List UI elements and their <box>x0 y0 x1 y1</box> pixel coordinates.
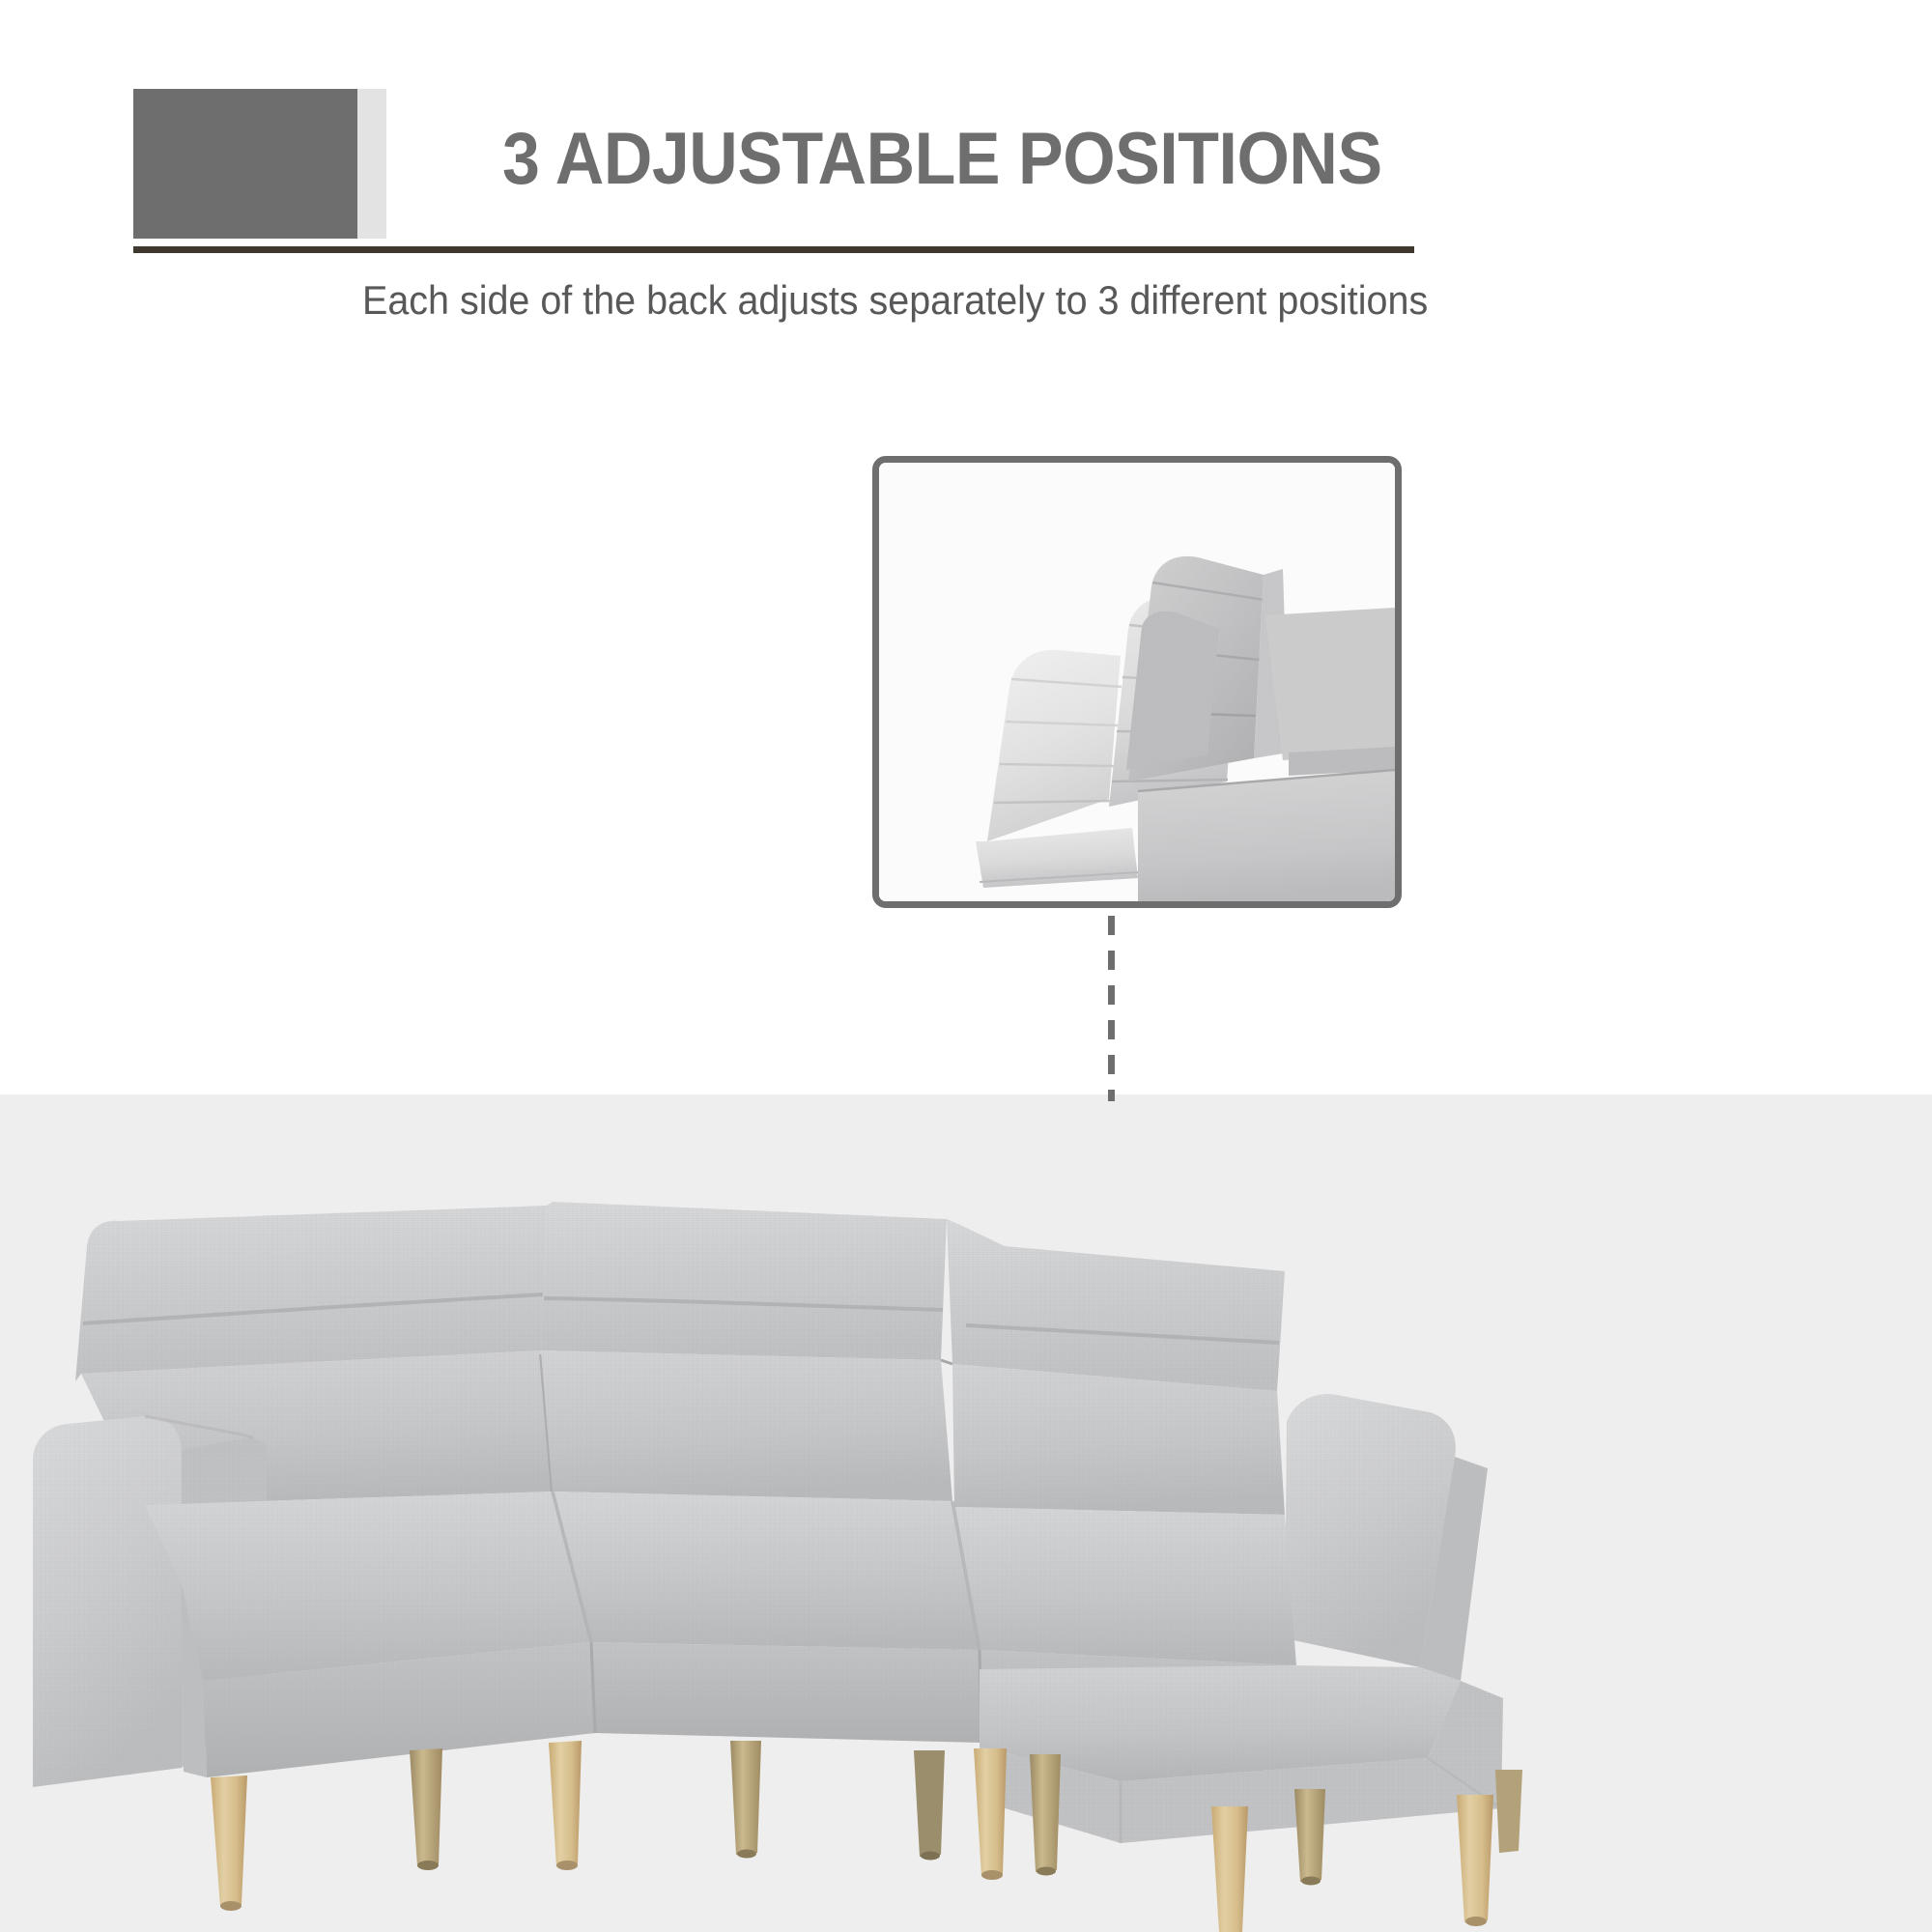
hero-product-image <box>0 1101 1932 1932</box>
page-title: 3 ADJUSTABLE POSITIONS <box>502 123 1391 196</box>
sofa-illustration <box>0 1101 1932 1932</box>
page-subtitle: Each side of the back adjusts separately… <box>362 275 1379 325</box>
split-back-detail-image <box>879 463 1395 901</box>
badge-block-light <box>357 89 386 239</box>
split-back-detail-box <box>872 456 1402 908</box>
marketing-banner: 3 ADJUSTABLE POSITIONS Each side of the … <box>0 0 1932 1932</box>
header-divider <box>133 246 1414 253</box>
header-badge <box>133 89 386 239</box>
badge-block-dark <box>133 89 357 239</box>
